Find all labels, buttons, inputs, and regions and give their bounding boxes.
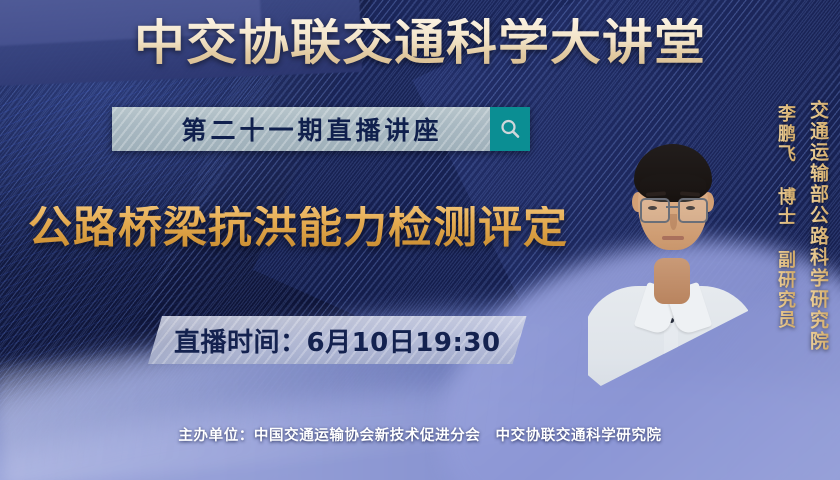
- shirt-button-second: [669, 364, 674, 369]
- speaker-organization: 交通运输部公路科学研究院: [805, 100, 832, 352]
- broadcast-time-text: 直播时间：6月10日19:30: [174, 322, 501, 359]
- episode-banner: 第二十一期直播讲座: [112, 107, 530, 151]
- broadcast-time-badge: 直播时间：6月10日19:30: [148, 316, 527, 364]
- neck: [654, 258, 690, 304]
- organizer-footer: 主办单位：中国交通运输协会新技术促进分会 中交协联交通科学研究院: [0, 424, 840, 445]
- mouth: [662, 236, 684, 240]
- portrait-illustration: [588, 118, 748, 386]
- search-icon: [499, 118, 521, 140]
- search-button[interactable]: [490, 107, 530, 151]
- glasses-lens-right: [678, 198, 708, 223]
- episode-banner-body: 第二十一期直播讲座: [112, 107, 490, 151]
- speaker-name-title: 李鹏飞 博士 副研究员: [772, 104, 798, 330]
- nose: [670, 214, 677, 230]
- bottom-ribbon-c: [0, 286, 605, 480]
- episode-label: 第二十一期直播讲座: [159, 111, 442, 147]
- glasses-bridge: [666, 206, 678, 208]
- speaker-photo: [588, 118, 748, 386]
- lecture-headline: 公路桥梁抗洪能力检测评定: [28, 206, 568, 250]
- glasses-lens-left: [640, 198, 670, 223]
- poster-canvas: 中交协联交通科学大讲堂 第二十一期直播讲座 公路桥梁抗洪能力检测评定 直播时间：…: [0, 0, 840, 480]
- page-title: 中交协联交通科学大讲堂: [0, 18, 840, 67]
